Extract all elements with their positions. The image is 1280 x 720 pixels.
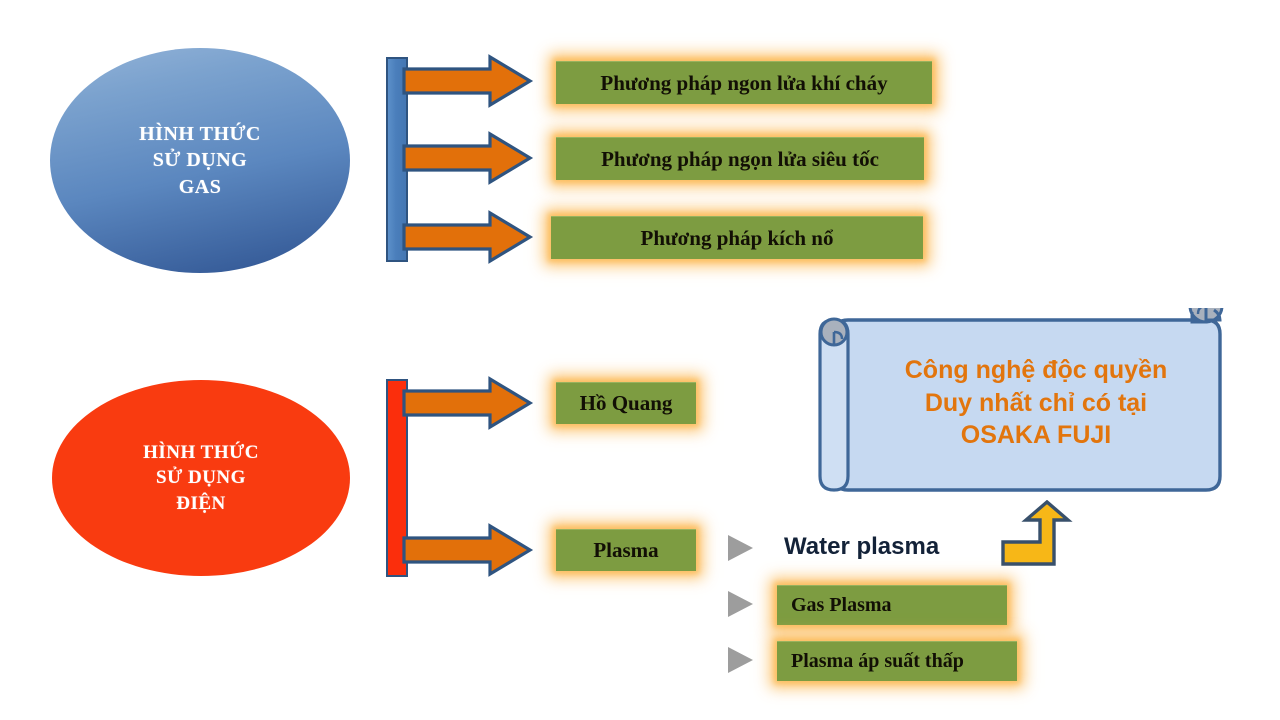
node-gas-label-line3: GAS <box>139 174 261 200</box>
node-gas-label-line1: HÌNH THỨC <box>139 121 261 147</box>
item-box-dien-2[interactable]: Plasma <box>556 529 696 571</box>
arrow-right-icon-gas-1 <box>402 55 532 107</box>
callout-scroll-banner[interactable]: Công nghệ độc quyền Duy nhất chỉ có tại … <box>820 336 1220 498</box>
sublist-box-gas-plasma[interactable]: Gas Plasma <box>777 585 1007 625</box>
node-dien-ellipse[interactable]: HÌNH THỨC SỬ DỤNG ĐIỆN <box>52 380 350 576</box>
triangle-bullet-icon-2 <box>728 591 753 617</box>
sublist-label-low-pressure-plasma: Plasma áp suất thấp <box>791 650 964 673</box>
sublist-label-gas-plasma: Gas Plasma <box>791 594 892 617</box>
arrow-right-icon-gas-3 <box>402 211 532 263</box>
callout-line-3: OSAKA FUJI <box>860 419 1212 452</box>
arrow-right-icon-dien-2 <box>402 524 532 576</box>
callout-line-1: Công nghệ độc quyền <box>860 354 1212 387</box>
callout-line-2: Duy nhất chỉ có tại <box>860 387 1212 420</box>
arrow-right-icon-dien-1 <box>402 377 532 429</box>
node-dien-label: HÌNH THỨC SỬ DỤNG ĐIỆN <box>143 440 259 515</box>
node-dien-label-line3: ĐIỆN <box>143 491 259 516</box>
diagram-canvas: HÌNH THỨC SỬ DỤNG GAS Phương pháp ngon l… <box>0 0 1280 720</box>
triangle-bullet-icon-1 <box>728 535 753 561</box>
bullet-row-low-pressure-plasma[interactable] <box>728 647 753 673</box>
item-label-gas-3: Phương pháp kích nổ <box>641 226 834 251</box>
item-label-gas-1: Phương pháp ngon lửa khí cháy <box>600 71 887 96</box>
item-box-dien-1[interactable]: Hồ Quang <box>556 382 696 424</box>
sublist-box-low-pressure-plasma[interactable]: Plasma áp suất thấp <box>777 641 1017 681</box>
node-gas-label-line2: SỬ DỤNG <box>139 147 261 173</box>
elbow-arrow-up-icon <box>1000 500 1076 568</box>
bullet-row-gas-plasma[interactable] <box>728 591 753 617</box>
node-gas-ellipse[interactable]: HÌNH THỨC SỬ DỤNG GAS <box>50 48 350 273</box>
arrow-right-icon-gas-2 <box>402 132 532 184</box>
item-box-gas-1[interactable]: Phương pháp ngon lửa khí cháy <box>556 61 932 104</box>
item-box-gas-2[interactable]: Phương pháp ngọn lửa siêu tốc <box>556 137 924 180</box>
sublist-label-water-plasma: Water plasma <box>784 533 939 561</box>
node-gas-label: HÌNH THỨC SỬ DỤNG GAS <box>139 121 261 200</box>
item-label-dien-1: Hồ Quang <box>580 391 673 416</box>
triangle-bullet-icon-3 <box>728 647 753 673</box>
node-dien-label-line2: SỬ DỤNG <box>143 465 259 490</box>
item-label-gas-2: Phương pháp ngọn lửa siêu tốc <box>601 147 879 172</box>
item-label-dien-2: Plasma <box>593 538 658 563</box>
item-box-gas-3[interactable]: Phương pháp kích nổ <box>551 216 923 259</box>
node-dien-label-line1: HÌNH THỨC <box>143 440 259 465</box>
callout-text: Công nghệ độc quyền Duy nhất chỉ có tại … <box>860 354 1212 452</box>
bullet-row-water-plasma[interactable] <box>728 535 753 561</box>
